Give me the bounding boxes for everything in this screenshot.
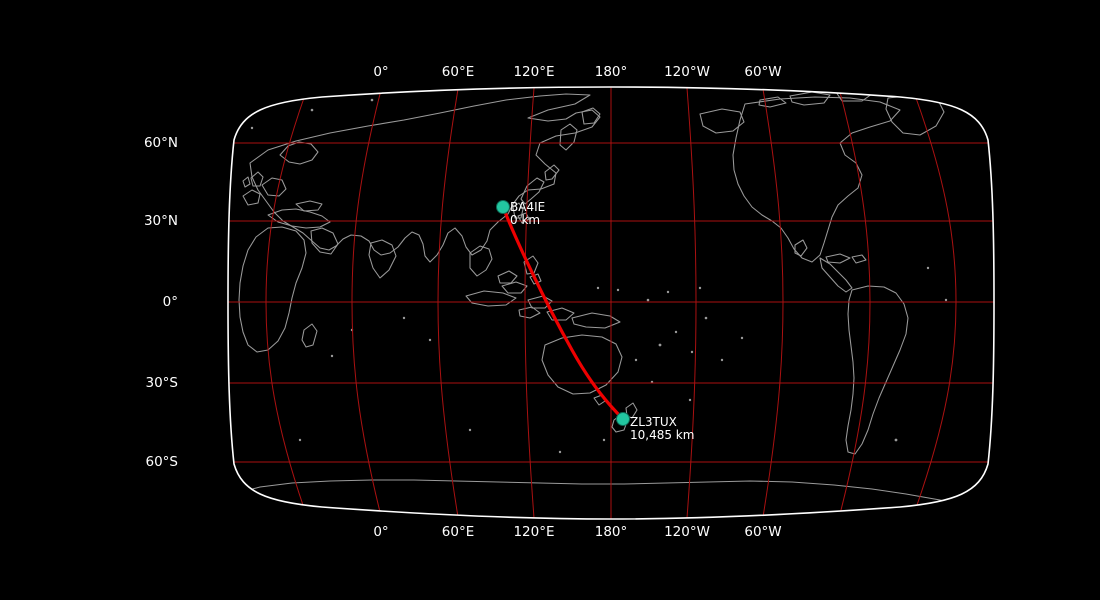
- lon-label-top-3: 180°: [595, 64, 628, 80]
- lat-label-4: 60°S: [118, 454, 178, 470]
- lon-label-bottom-3: 180°: [595, 524, 628, 540]
- station-callsign-destination: ZL3TUX: [630, 415, 677, 429]
- station-callsign-origin: BA4IE: [510, 200, 545, 214]
- lon-label-bottom-2: 120°E: [513, 524, 554, 540]
- lon-label-top-5: 60°W: [744, 64, 781, 80]
- lon-label-top-0: 0°: [373, 64, 388, 80]
- lon-label-top-1: 60°E: [442, 64, 474, 80]
- lat-label-1: 30°N: [118, 213, 178, 229]
- lat-label-0: 60°N: [118, 135, 178, 151]
- station-marker-origin[interactable]: [497, 201, 510, 214]
- station-distance-destination: 10,485 km: [630, 429, 694, 442]
- station-label-destination: ZL3TUX 10,485 km: [630, 416, 694, 441]
- map-figure: Robinson Projection OM86 to RE66HO (143°…: [0, 0, 1100, 600]
- lon-label-bottom-1: 60°E: [442, 524, 474, 540]
- lat-label-2: 0°: [118, 294, 178, 310]
- lon-label-bottom-4: 120°W: [664, 524, 710, 540]
- lon-label-top-2: 120°E: [513, 64, 554, 80]
- lon-label-bottom-0: 0°: [373, 524, 388, 540]
- station-label-origin: BA4IE 0 km: [510, 201, 545, 226]
- lon-label-bottom-5: 60°W: [744, 524, 781, 540]
- station-distance-origin: 0 km: [510, 214, 545, 227]
- station-marker-destination[interactable]: [617, 413, 630, 426]
- lat-label-3: 30°S: [118, 375, 178, 391]
- lon-label-top-4: 120°W: [664, 64, 710, 80]
